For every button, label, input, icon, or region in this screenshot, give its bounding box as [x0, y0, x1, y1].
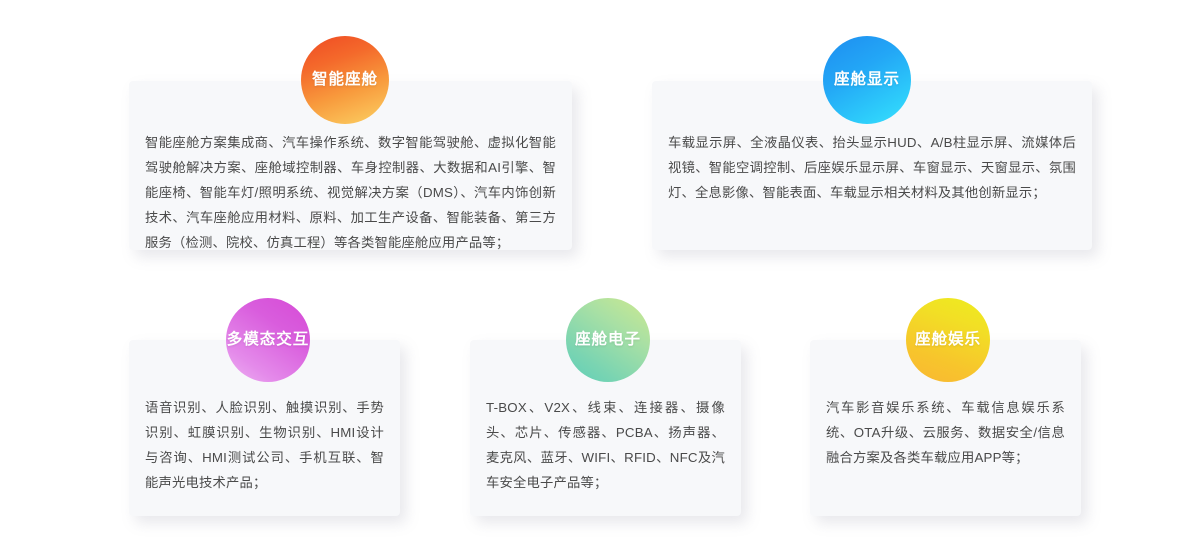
category-badge-label: 座舱显示 [834, 72, 900, 88]
category-badge-label: 多模态交互 [227, 332, 310, 348]
category-badge-cockpit-display: 座舱显示 [823, 36, 911, 124]
category-cards-board: 智能座舱方案集成商、汽车操作系统、数字智能驾驶舱、虚拟化智能驾驶舱解决方案、座舱… [0, 0, 1200, 550]
category-card-description: T-BOX、V2X、线束、连接器、摄像头、芯片、传感器、PCBA、扬声器、麦克风… [470, 395, 741, 495]
category-card-description: 汽车影音娱乐系统、车载信息娱乐系统、OTA升级、云服务、数据安全/信息融合方案及… [810, 395, 1081, 470]
category-badge-cockpit-electronics: 座舱电子 [566, 298, 650, 382]
category-badge-cockpit-entertainment: 座舱娱乐 [906, 298, 990, 382]
category-badge-smart-cockpit: 智能座舱 [301, 36, 389, 124]
category-card-description: 语音识别、人脸识别、触摸识别、手势识别、虹膜识别、生物识别、HMI设计与咨询、H… [129, 395, 400, 495]
category-badge-label: 座舱电子 [575, 332, 641, 348]
category-card-description: 智能座舱方案集成商、汽车操作系统、数字智能驾驶舱、虚拟化智能驾驶舱解决方案、座舱… [129, 130, 572, 255]
category-card-description: 车载显示屏、全液晶仪表、抬头显示HUD、A/B柱显示屏、流媒体后视镜、智能空调控… [652, 130, 1092, 205]
category-badge-label: 智能座舱 [312, 72, 378, 88]
category-badge-multimodal-interaction: 多模态交互 [226, 298, 310, 382]
category-badge-label: 座舱娱乐 [915, 332, 981, 348]
